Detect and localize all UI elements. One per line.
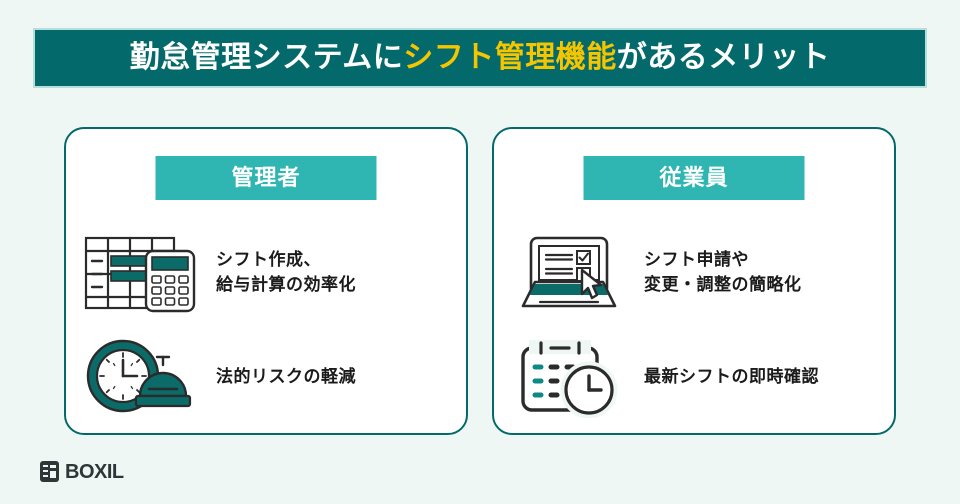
page-title-part1: 勤怠管理システムに <box>130 41 404 74</box>
boxil-logo-mark-icon <box>40 461 59 482</box>
slide-canvas: 勤怠管理システムにシフト管理機能があるメリット 管理者 <box>0 0 960 504</box>
page-title-highlight: シフト管理機能 <box>403 41 617 74</box>
header-banner: 勤怠管理システムにシフト管理機能があるメリット <box>33 28 927 88</box>
card-badge-manager: 管理者 <box>156 156 377 200</box>
card-manager: 管理者 <box>64 127 468 435</box>
benefit-row: 法的リスクの軽減 <box>66 325 466 429</box>
card-badge-employee: 従業員 <box>584 156 805 200</box>
benefit-row: シフト申請や 変更・調整の簡略化 <box>494 221 894 325</box>
benefit-list-employee: シフト申請や 変更・調整の簡略化 <box>494 221 894 429</box>
page-title-part2: があるメリット <box>617 41 831 74</box>
calendar-clock-icon <box>494 336 644 418</box>
benefit-text: 法的リスクの軽減 <box>216 365 356 390</box>
benefit-row: シフト作成、 給与計算の効率化 <box>66 221 466 325</box>
card-employee: 従業員 <box>492 127 896 435</box>
benefit-row: 最新シフトの即時確認 <box>494 325 894 429</box>
benefit-text: 最新シフトの即時確認 <box>644 365 819 390</box>
benefit-text: シフト作成、 給与計算の効率化 <box>216 248 356 297</box>
badge-label: 従業員 <box>659 167 728 189</box>
boxil-logo-text: BOXIL <box>65 462 124 482</box>
spreadsheet-calculator-icon <box>66 232 216 314</box>
boxil-logo: BOXIL <box>40 461 124 482</box>
page-title: 勤怠管理システムにシフト管理機能があるメリット <box>130 43 831 73</box>
benefit-list-manager: シフト作成、 給与計算の効率化 <box>66 221 466 429</box>
clock-bell-icon <box>66 336 216 418</box>
badge-label: 管理者 <box>231 167 300 189</box>
laptop-checklist-cursor-icon <box>494 232 644 314</box>
benefit-text: シフト申請や 変更・調整の簡略化 <box>644 248 802 297</box>
